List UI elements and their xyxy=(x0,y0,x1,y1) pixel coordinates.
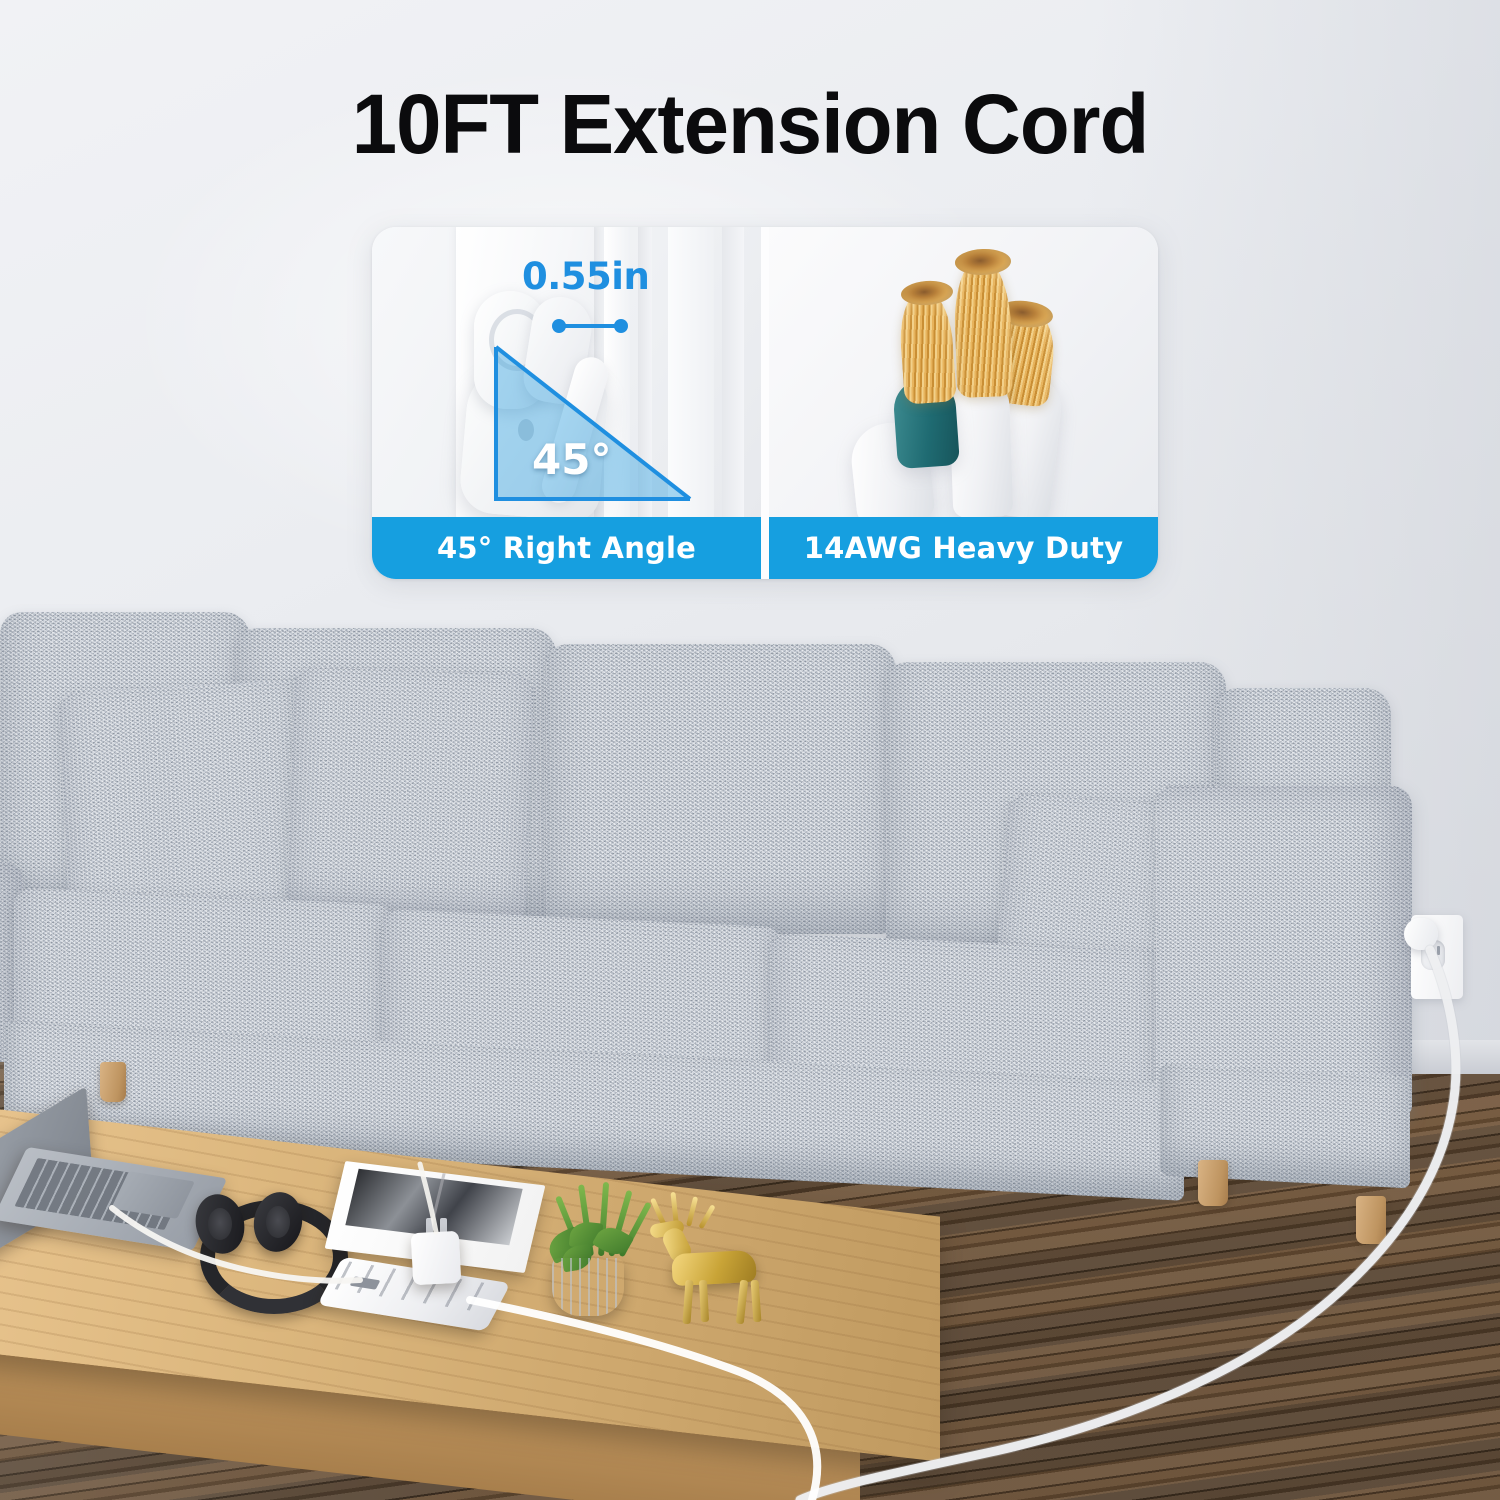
feature-panel-heavy-duty[interactable]: 14AWG Heavy Duty xyxy=(769,227,1158,579)
plant-pot xyxy=(552,1258,624,1316)
sofa-leg xyxy=(100,1062,126,1102)
dimension-endpoint-left xyxy=(552,319,566,333)
sofa-leg xyxy=(1356,1196,1386,1244)
angle-label: 45° xyxy=(532,435,611,484)
sofa-leg xyxy=(1198,1160,1228,1206)
wall-charger xyxy=(411,1231,462,1285)
measurement-label: 0.55in xyxy=(522,255,649,298)
page-title: 10FT Extension Cord xyxy=(23,82,1478,166)
feature-panel-right-angle[interactable]: 0.55in 45° 45° Right Angle xyxy=(372,227,761,579)
dimension-endpoint-right xyxy=(614,319,628,333)
plugged-in-plug xyxy=(1404,918,1438,950)
right-angle-illustration: 0.55in 45° xyxy=(372,227,761,517)
heavy-duty-illustration xyxy=(769,227,1158,517)
dimension-line xyxy=(558,324,620,328)
feature-card: 0.55in 45° 45° Right Angle xyxy=(372,227,1158,579)
caption-text-right-angle: 45° Right Angle xyxy=(437,531,696,565)
caption-bar-heavy-duty: 14AWG Heavy Duty xyxy=(769,517,1158,579)
product-marketing-image: 10FT Extension Cord xyxy=(0,0,1500,1500)
caption-text-heavy-duty: 14AWG Heavy Duty xyxy=(804,531,1123,565)
caption-bar-right-angle: 45° Right Angle xyxy=(372,517,761,579)
